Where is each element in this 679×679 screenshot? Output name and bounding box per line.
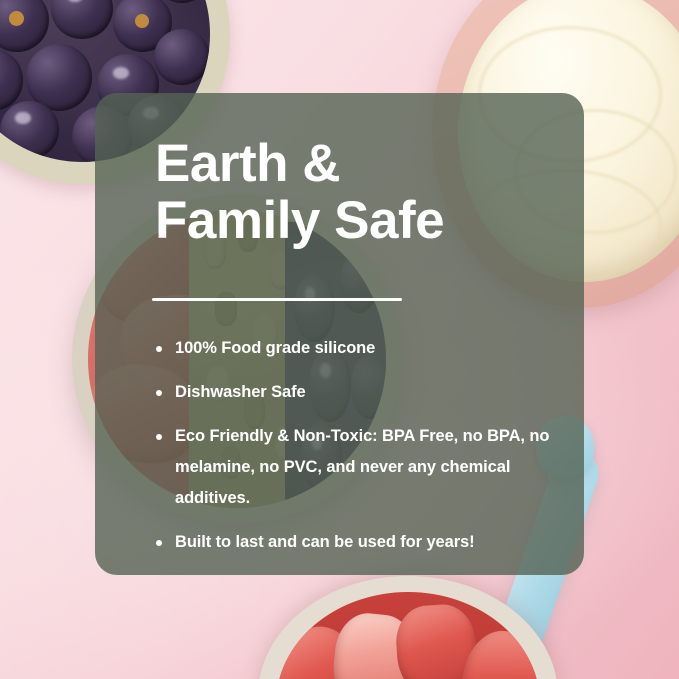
strawberry-bowl-contents [276,592,540,679]
panel-title-line-2: Family Safe [155,192,575,249]
list-item: Built to last and can be used for years! [153,527,553,558]
feature-bullet-list: 100% Food grade silicone Dishwasher Safe… [153,333,553,571]
list-item: Eco Friendly & Non-Toxic: BPA Free, no B… [153,421,553,514]
feature-overlay-panel: Earth & Family Safe 100% Food grade sili… [95,93,584,575]
product-feature-image: Earth & Family Safe 100% Food grade sili… [0,0,679,679]
list-item: Dishwasher Safe [153,377,553,408]
list-item: 100% Food grade silicone [153,333,553,364]
panel-title-line-1: Earth & [155,135,575,192]
panel-title: Earth & Family Safe [155,135,575,249]
title-divider [152,298,402,301]
